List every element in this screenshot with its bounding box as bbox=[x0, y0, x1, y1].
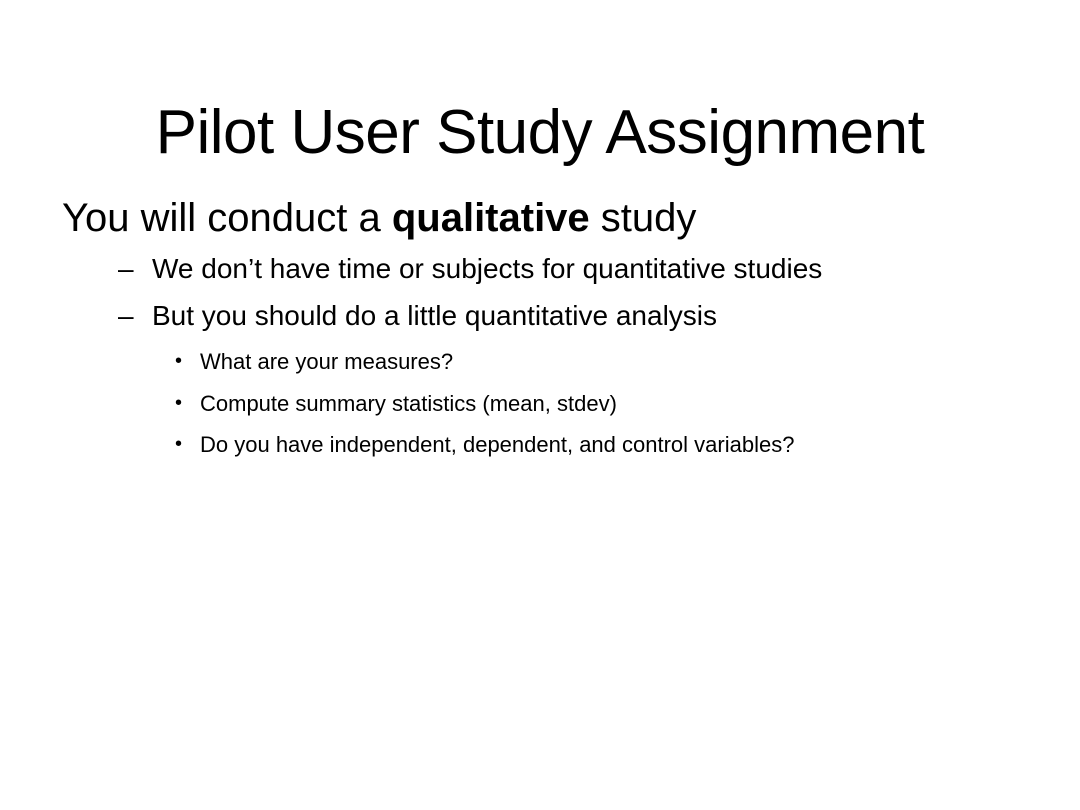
level1-text-before: You will conduct a bbox=[62, 196, 392, 240]
dot-bullet-icon: • bbox=[175, 432, 182, 457]
dot-bullet-icon: • bbox=[175, 391, 182, 416]
bullet-level1-qualitative-study: You will conduct a qualitative study bbox=[62, 195, 1020, 242]
bullet-level3-compute-summary-statistics: • Compute summary statistics (mean, stde… bbox=[62, 391, 1020, 417]
bullet-level2-label: We don’t have time or subjects for quant… bbox=[152, 253, 822, 284]
bullet-level2-little-quantitative-analysis: – But you should do a little quantitativ… bbox=[62, 299, 1020, 333]
bullet-level2-label: But you should do a little quantitative … bbox=[152, 300, 717, 331]
dash-bullet-icon: – bbox=[118, 252, 134, 286]
bullet-level3-label: What are your measures? bbox=[200, 349, 453, 374]
level1-emphasis-qualitative: qualitative bbox=[392, 196, 590, 240]
bullet-level3-label: Compute summary statistics (mean, stdev) bbox=[200, 391, 617, 416]
bullet-level3-label: Do you have independent, dependent, and … bbox=[200, 432, 794, 457]
dash-bullet-icon: – bbox=[118, 299, 134, 333]
bullet-level3-what-are-your-measures: • What are your measures? bbox=[62, 349, 1020, 375]
bullet-level3-group: • What are your measures? • Compute summ… bbox=[62, 349, 1020, 458]
level1-text-after: study bbox=[590, 196, 697, 240]
bullet-level2-no-time-or-subjects: – We don’t have time or subjects for qua… bbox=[62, 252, 1020, 286]
slide-body-content: You will conduct a qualitative study – W… bbox=[62, 195, 1020, 474]
dot-bullet-icon: • bbox=[175, 349, 182, 374]
bullet-level3-independent-dependent-control-variables: • Do you have independent, dependent, an… bbox=[62, 432, 1020, 458]
presentation-slide: Pilot User Study Assignment You will con… bbox=[0, 0, 1080, 810]
slide-title: Pilot User Study Assignment bbox=[0, 100, 1080, 167]
